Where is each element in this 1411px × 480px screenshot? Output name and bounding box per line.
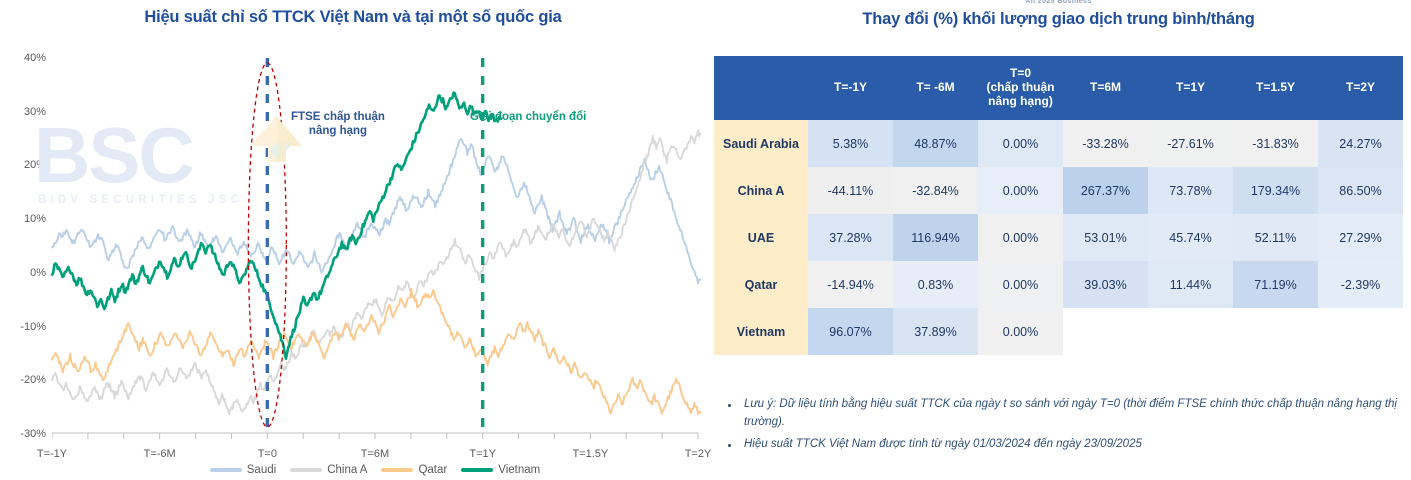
legend-item[interactable]: Qatar <box>381 464 447 476</box>
table-cell: 24.27% <box>1318 120 1403 167</box>
x-axis-tick-label: T=1.5Y <box>572 448 608 460</box>
legend-item[interactable]: China A <box>290 464 367 476</box>
table-row-label: Qatar <box>714 261 808 308</box>
table-corner-cell <box>714 56 808 120</box>
legend-item[interactable]: Saudi <box>210 464 276 476</box>
footnote-list: Lưu ý: Dữ liệu tính bằng hiệu suất TTCK … <box>718 396 1398 453</box>
table-row: Qatar-14.94%0.83%0.00%39.03%11.44%71.19%… <box>714 261 1403 308</box>
table-body: Saudi Arabia5.38%48.87%0.00%-33.28%-27.6… <box>714 120 1403 355</box>
table-cell: 52.11% <box>1233 214 1318 261</box>
table-cell: -14.94% <box>808 261 893 308</box>
x-axis-line <box>52 432 706 444</box>
table-cell: 48.87% <box>893 120 978 167</box>
footnotes: Lưu ý: Dữ liệu tính bằng hiệu suất TTCK … <box>718 396 1398 457</box>
legend-label: China A <box>327 464 367 476</box>
x-axis-tick-label: T=1Y <box>469 448 496 460</box>
table-row: Vietnam96.07%37.89%0.00% <box>714 308 1403 355</box>
chart-legend: SaudiChina AQatarVietnam <box>52 461 698 479</box>
legend-label: Qatar <box>418 464 447 476</box>
table-cell: 5.38% <box>808 120 893 167</box>
table-head: T=-1YT= -6MT=0(chấp thuậnnâng hạng)T=6MT… <box>714 56 1403 120</box>
table-cell: 267.37% <box>1063 167 1148 214</box>
table-cell: 73.78% <box>1148 167 1233 214</box>
table-cell: 37.28% <box>808 214 893 261</box>
legend-swatch <box>381 468 413 472</box>
table-title: Thay đổi (%) khối lượng giao dịch trung … <box>706 10 1411 29</box>
x-axis-tick-label: T=6M <box>361 448 389 460</box>
table-col-header: T=-1Y <box>808 56 893 120</box>
table-cell: 39.03% <box>1063 261 1148 308</box>
table-cell: 11.44% <box>1148 261 1233 308</box>
table-cell: -32.84% <box>893 167 978 214</box>
legend-label: Vietnam <box>498 464 540 476</box>
series-line-china-a <box>52 130 700 414</box>
table-cell <box>1233 308 1318 355</box>
table-col-header: T=0(chấp thuậnnâng hạng) <box>978 56 1063 120</box>
table-cell: -27.61% <box>1148 120 1233 167</box>
table-cell: 179.34% <box>1233 167 1318 214</box>
plot-area: BSC BIDV SECURITIES JSC FTSE chấp thuậnn… <box>0 52 706 434</box>
table-cell: 86.50% <box>1318 167 1403 214</box>
table-col-header: T= -6M <box>893 56 978 120</box>
table-header-row: T=-1YT= -6MT=0(chấp thuậnnâng hạng)T=6MT… <box>714 56 1403 120</box>
table-col-header: T=1Y <box>1148 56 1233 120</box>
x-axis-tick-label: T=-1Y <box>37 448 67 460</box>
table-row-label: Vietnam <box>714 308 808 355</box>
table-cell: -33.28% <box>1063 120 1148 167</box>
table-row: UAE37.28%116.94%0.00%53.01%45.74%52.11%2… <box>714 214 1403 261</box>
table-cell <box>1063 308 1148 355</box>
table-row: China A-44.11%-32.84%0.00%267.37%73.78%1… <box>714 167 1403 214</box>
table-panel: An 2025 Business Thay đổi (%) khối lượng… <box>706 0 1411 480</box>
table-cell: -31.83% <box>1233 120 1318 167</box>
legend-swatch <box>290 468 322 472</box>
table-cell: 27.29% <box>1318 214 1403 261</box>
screenshot-root: Hiệu suất chỉ số TTCK Việt Nam và tại mộ… <box>0 0 1411 480</box>
chart-title: Hiệu suất chỉ số TTCK Việt Nam và tại mộ… <box>0 8 706 27</box>
legend-item[interactable]: Vietnam <box>461 464 540 476</box>
legend-swatch <box>210 468 242 472</box>
legend-swatch <box>461 468 493 473</box>
table-cell: 0.00% <box>978 167 1063 214</box>
table-col-header: T=6M <box>1063 56 1148 120</box>
table-row-label: Saudi Arabia <box>714 120 808 167</box>
table-cell: 37.89% <box>893 308 978 355</box>
table-cell: 0.00% <box>978 120 1063 167</box>
table-cell <box>1318 308 1403 355</box>
annotation-ftse-approval: FTSE chấp thuậnnâng hạng <box>280 110 396 139</box>
table-cell: -44.11% <box>808 167 893 214</box>
series-line-qatar <box>52 289 700 415</box>
footnote-item: Hiệu suất TTCK Việt Nam được tính từ ngà… <box>718 436 1398 454</box>
table-cell: 0.00% <box>978 214 1063 261</box>
table-cell: 0.00% <box>978 261 1063 308</box>
chart-panel: Hiệu suất chỉ số TTCK Việt Nam và tại mộ… <box>0 0 706 480</box>
table-kicker-text: An 2025 Business <box>706 0 1411 5</box>
table-cell: 71.19% <box>1233 261 1318 308</box>
table-cell: 0.83% <box>893 261 978 308</box>
table-cell <box>1148 308 1233 355</box>
table-row-label: UAE <box>714 214 808 261</box>
table-cell: 96.07% <box>808 308 893 355</box>
table-row: Saudi Arabia5.38%48.87%0.00%-33.28%-27.6… <box>714 120 1403 167</box>
table-cell: 0.00% <box>978 308 1063 355</box>
table-cell: -2.39% <box>1318 261 1403 308</box>
footnote-item: Lưu ý: Dữ liệu tính bằng hiệu suất TTCK … <box>718 396 1398 432</box>
table-cell: 45.74% <box>1148 214 1233 261</box>
x-axis-tick-label: T=-6M <box>144 448 176 460</box>
table-col-header: T=2Y <box>1318 56 1403 120</box>
x-axis-tick-label: T=0 <box>258 448 277 460</box>
table-cell: 116.94% <box>893 214 978 261</box>
table-row-label: China A <box>714 167 808 214</box>
series-line-vietnam <box>52 93 501 359</box>
table-cell: 53.01% <box>1063 214 1148 261</box>
legend-label: Saudi <box>247 464 276 476</box>
annotation-transition-period: Giai đoạn chuyển đổi <box>470 110 640 124</box>
volume-change-table: T=-1YT= -6MT=0(chấp thuậnnâng hạng)T=6MT… <box>714 56 1403 355</box>
table-col-header: T=1.5Y <box>1233 56 1318 120</box>
